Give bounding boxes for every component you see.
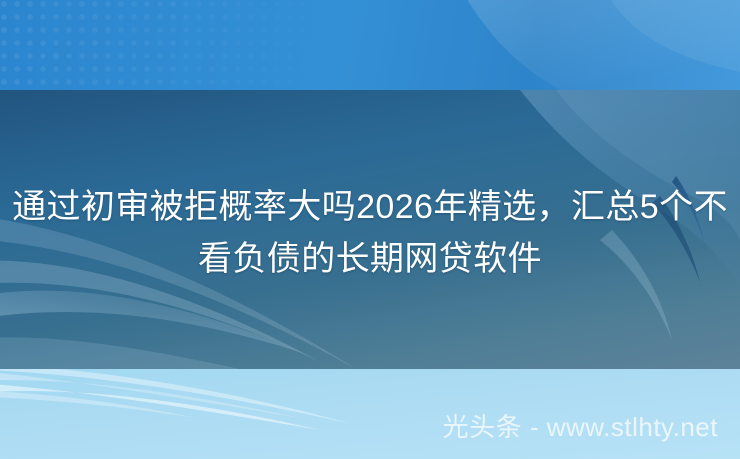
- promo-banner: 通过初审被拒概率大吗2026年精选，汇总5个不看负债的长期网贷软件 光头条 - …: [0, 0, 740, 459]
- background-band-top: [0, 0, 740, 90]
- banner-headline: 通过初审被拒概率大吗2026年精选，汇总5个不看负债的长期网贷软件: [0, 181, 740, 285]
- site-watermark: 光头条 - www.stlhty.net: [443, 410, 718, 444]
